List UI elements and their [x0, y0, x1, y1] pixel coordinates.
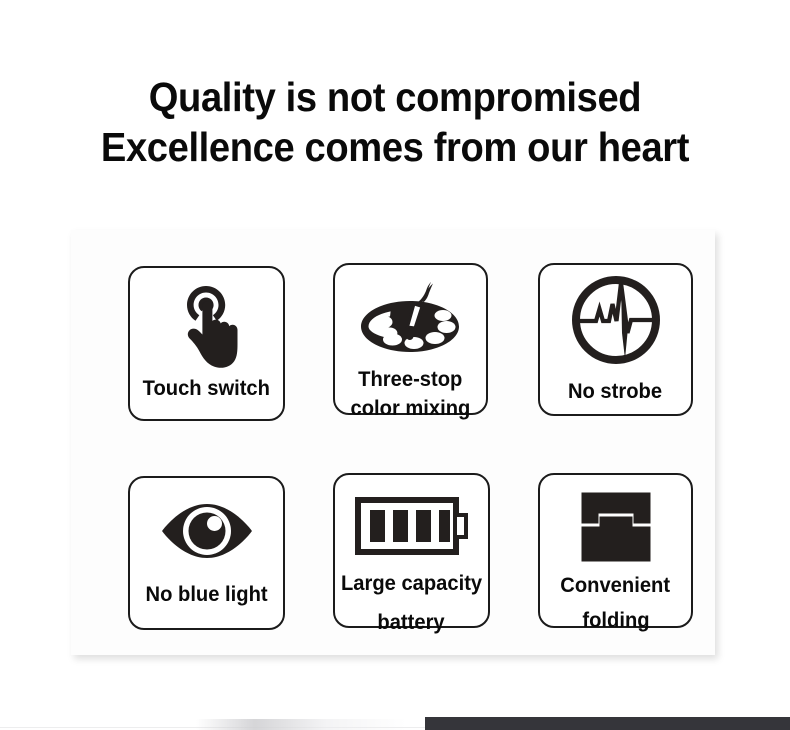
feature-grid: Touch switch: [71, 230, 715, 655]
bottom-dark-bar: [425, 717, 790, 730]
feature-card-touch-switch[interactable]: Touch switch: [128, 266, 285, 421]
bottom-faded-shape: [196, 719, 406, 730]
page-title: Quality is not compromised Excellence co…: [0, 72, 790, 172]
feature-card-content: Three-stop color mixing: [313, 265, 508, 413]
touch-hand-icon: [108, 282, 305, 370]
page-title-line-2: Excellence comes from our heart: [28, 122, 763, 172]
feature-card-no-strobe[interactable]: No strobe: [538, 263, 693, 416]
feature-card-label-line-1: Large capacity: [341, 571, 482, 596]
feature-card-battery[interactable]: Large capacity battery: [333, 473, 490, 628]
paint-palette-icon: [313, 281, 508, 363]
waveform-circle-icon: [518, 273, 713, 367]
feature-panel: Touch switch: [71, 230, 715, 655]
feature-card-label-line-1: Three-stop: [358, 367, 462, 392]
page-title-line-1: Quality is not compromised: [28, 72, 763, 122]
feature-card-label-line-2: color mixing: [351, 396, 471, 421]
folding-blocks-icon: [518, 491, 713, 563]
feature-card-label: No strobe: [568, 379, 662, 404]
feature-card-no-blue-light[interactable]: No blue light: [128, 476, 285, 630]
feature-card-label: No blue light: [145, 582, 267, 607]
feature-card-content: No strobe: [518, 265, 713, 414]
feature-card-content: No blue light: [108, 478, 305, 628]
feature-card-folding[interactable]: Convenient folding: [538, 473, 693, 628]
feature-card-color-mixing[interactable]: Three-stop color mixing: [333, 263, 488, 415]
feature-card-label-line-2: battery: [378, 610, 445, 635]
feature-card-label: Touch switch: [143, 376, 270, 401]
feature-card-content: Convenient folding: [518, 475, 713, 626]
eye-icon: [108, 502, 305, 560]
feature-card-content: Touch switch: [108, 268, 305, 419]
feature-card-label-line-2: folding: [582, 608, 649, 633]
battery-icon: [313, 495, 510, 557]
feature-card-label-line-1: Convenient: [561, 573, 671, 598]
feature-card-content: Large capacity battery: [313, 475, 510, 626]
